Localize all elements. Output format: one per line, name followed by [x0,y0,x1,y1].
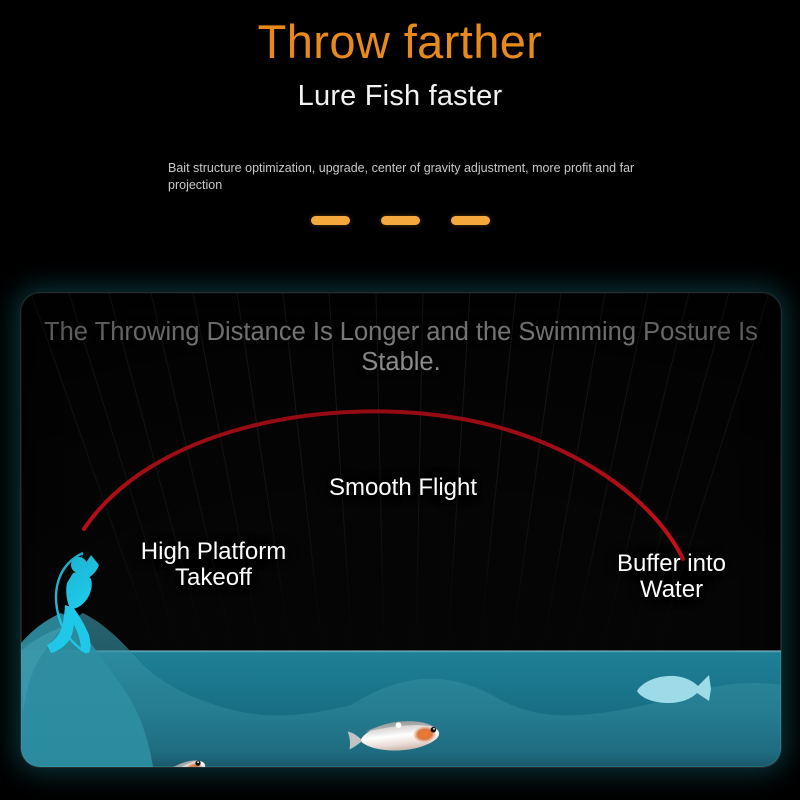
page-subtitle: Lure Fish faster [0,80,800,113]
promo-graphic: Throw farther Lure Fish faster Bait stru… [0,0,800,800]
scene-illustration [21,293,781,767]
dash-mark [381,216,420,225]
dash-mark [311,216,350,225]
dash-mark [451,216,490,225]
page-title: Throw farther [0,14,800,69]
header-section: Throw farther Lure Fish faster Bait stru… [0,0,800,280]
header-description: Bait structure optimization, upgrade, ce… [168,160,638,194]
callout-buffer-into-water: Buffer into Water [564,551,779,603]
feature-panel: The Throwing Distance Is Longer and the … [20,292,782,768]
dash-separator [0,216,800,225]
callout-smooth-flight: Smooth Flight [283,475,523,501]
callout-high-platform-takeoff: High Platform Takeoff [106,539,321,591]
